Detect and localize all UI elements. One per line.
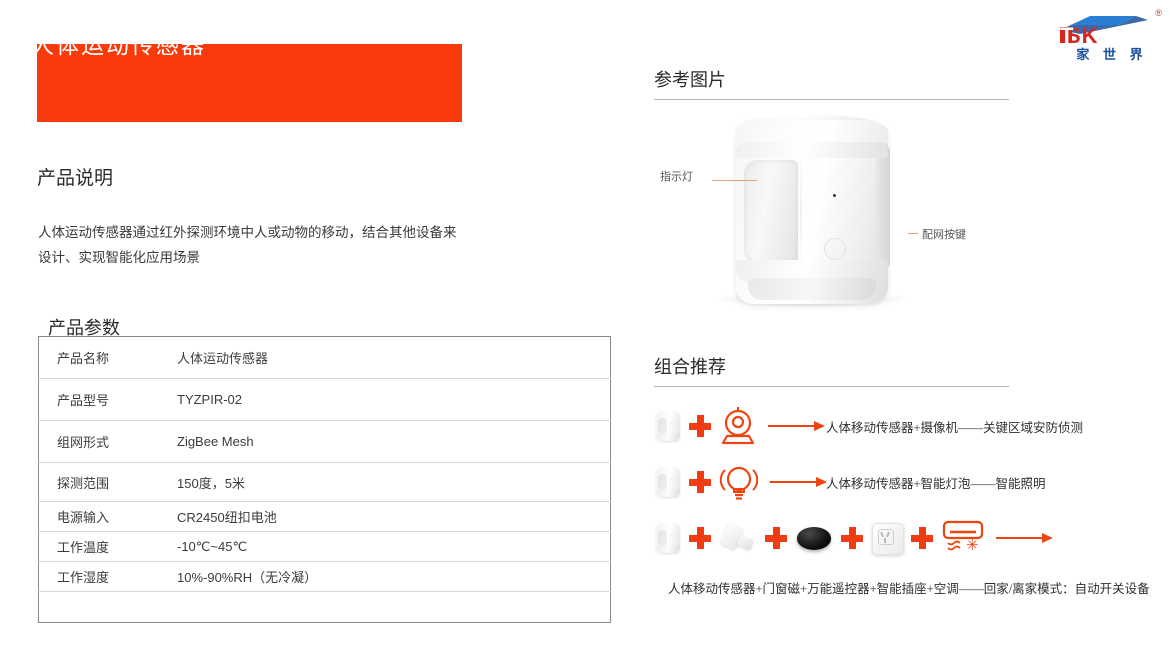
section-heading-reference: 参考图片: [654, 66, 726, 92]
description-body: 人体运动传感器通过红外探测环境中人或动物的移动，结合其他设备来设计、实现智能化应…: [38, 220, 468, 270]
table-row: 探测范围 150度，5米: [39, 463, 611, 502]
plus-icon: [689, 527, 711, 549]
plus-icon: [841, 527, 863, 549]
param-value: TYZPIR-02: [169, 379, 611, 421]
table-row: 产品名称 人体运动传感器: [39, 337, 611, 379]
table-row: 电源输入 CR2450纽扣电池: [39, 502, 611, 532]
combination-label: 人体移动传感器+智能灯泡——智能照明: [826, 454, 1046, 510]
section-heading-combination: 组合推荐: [654, 353, 726, 379]
air-conditioner-icon: ✳: [940, 519, 986, 557]
param-key: 产品型号: [39, 379, 170, 421]
parameters-table: 产品名称 人体运动传感器 产品型号 TYZPIR-02 组网形式 ZigBee …: [38, 336, 611, 623]
callout-leader-line-left: [712, 180, 757, 181]
table-row: 工作湿度 10%-90%RH（无冷凝）: [39, 562, 611, 592]
arrow-icon: [768, 421, 826, 431]
device-upper-ring: [736, 142, 888, 158]
motion-sensor-icon: [654, 409, 682, 443]
logo-tsk-mark: SK T: [1060, 16, 1152, 46]
callout-label-indicator: 指示灯: [660, 168, 693, 184]
motion-sensor-icon: [654, 521, 682, 555]
combination-list: 人体移动传感器+摄像机——关键区域安防侦测: [654, 398, 1154, 566]
table-row: 产品型号 TYZPIR-02: [39, 379, 611, 421]
combination-icons: [654, 454, 838, 510]
table-row: 组网形式 ZigBee Mesh: [39, 421, 611, 463]
param-key: 探测范围: [39, 463, 170, 502]
callout-label-pairing-button: 配网按键: [922, 226, 966, 242]
combination-label: 人体移动传感器+门窗磁+万能遥控器+智能插座+空调——回家/离家模式：自动开关设…: [668, 578, 1150, 597]
table-row: 工作温度 -10℃~45℃: [39, 532, 611, 562]
param-value: CR2450纽扣电池: [169, 502, 611, 532]
param-value: -10℃~45℃: [169, 532, 611, 562]
param-key: 组网形式: [39, 421, 170, 463]
param-value: 人体运动传感器: [169, 337, 611, 379]
param-value: ZigBee Mesh: [169, 421, 611, 463]
device-right-side: [876, 142, 890, 272]
door-window-sensor-icon: [718, 521, 758, 555]
arrow-icon: [770, 477, 828, 487]
light-bulb-icon: [718, 462, 760, 502]
divider: [654, 386, 1009, 387]
param-key: 产品名称: [39, 337, 170, 379]
plus-icon: [911, 527, 933, 549]
combination-row: 人体移动传感器+智能灯泡——智能照明: [654, 454, 1154, 510]
smart-socket-icon: [870, 521, 904, 555]
combination-label: 人体移动传感器+摄像机——关键区域安防侦测: [826, 398, 1083, 454]
indicator-light-icon: [833, 194, 836, 197]
param-key: 工作湿度: [39, 562, 170, 592]
arrow-icon: [996, 533, 1054, 543]
plus-icon: [689, 415, 711, 437]
section-heading-description: 产品说明: [37, 163, 113, 190]
param-key: 电源输入: [39, 502, 170, 532]
plus-icon: [765, 527, 787, 549]
combination-row: 人体移动传感器+摄像机——关键区域安防侦测: [654, 398, 1154, 454]
device-base: [748, 278, 876, 300]
device-seam: [800, 152, 802, 274]
pairing-button-icon: [824, 238, 846, 260]
device-pir-lens: [744, 160, 798, 264]
logo-chinese-name: 家 世 界: [1062, 44, 1162, 63]
param-key: 工作温度: [39, 532, 170, 562]
device-photo: [718, 112, 908, 312]
combination-icons: ✳: [654, 510, 1064, 566]
table-row: [39, 592, 611, 623]
brand-logo: ® SK T 家 世 界: [1060, 6, 1164, 64]
page-title: 人体运动传感器: [31, 26, 206, 60]
param-value: 150度，5米: [169, 463, 611, 502]
camera-icon: [718, 407, 758, 445]
param-value: 10%-90%RH（无冷凝）: [169, 562, 611, 592]
callout-leader-line-right: [908, 233, 918, 234]
divider: [654, 99, 1009, 100]
universal-remote-icon: [794, 521, 834, 555]
combination-row: ✳: [654, 510, 1154, 566]
motion-sensor-icon: [654, 465, 682, 499]
plus-icon: [689, 471, 711, 493]
combination-icons: [654, 398, 836, 454]
product-spec-page: ® SK T 家 世 界 人体运动传感器 产品说明 人体运动传感器通过红外探测环…: [0, 0, 1170, 658]
svg-text:T: T: [1060, 23, 1074, 46]
svg-text:✳: ✳: [966, 537, 979, 554]
registered-trademark-icon: ®: [1155, 8, 1162, 18]
param-value: [169, 592, 611, 623]
param-key: [39, 592, 170, 623]
